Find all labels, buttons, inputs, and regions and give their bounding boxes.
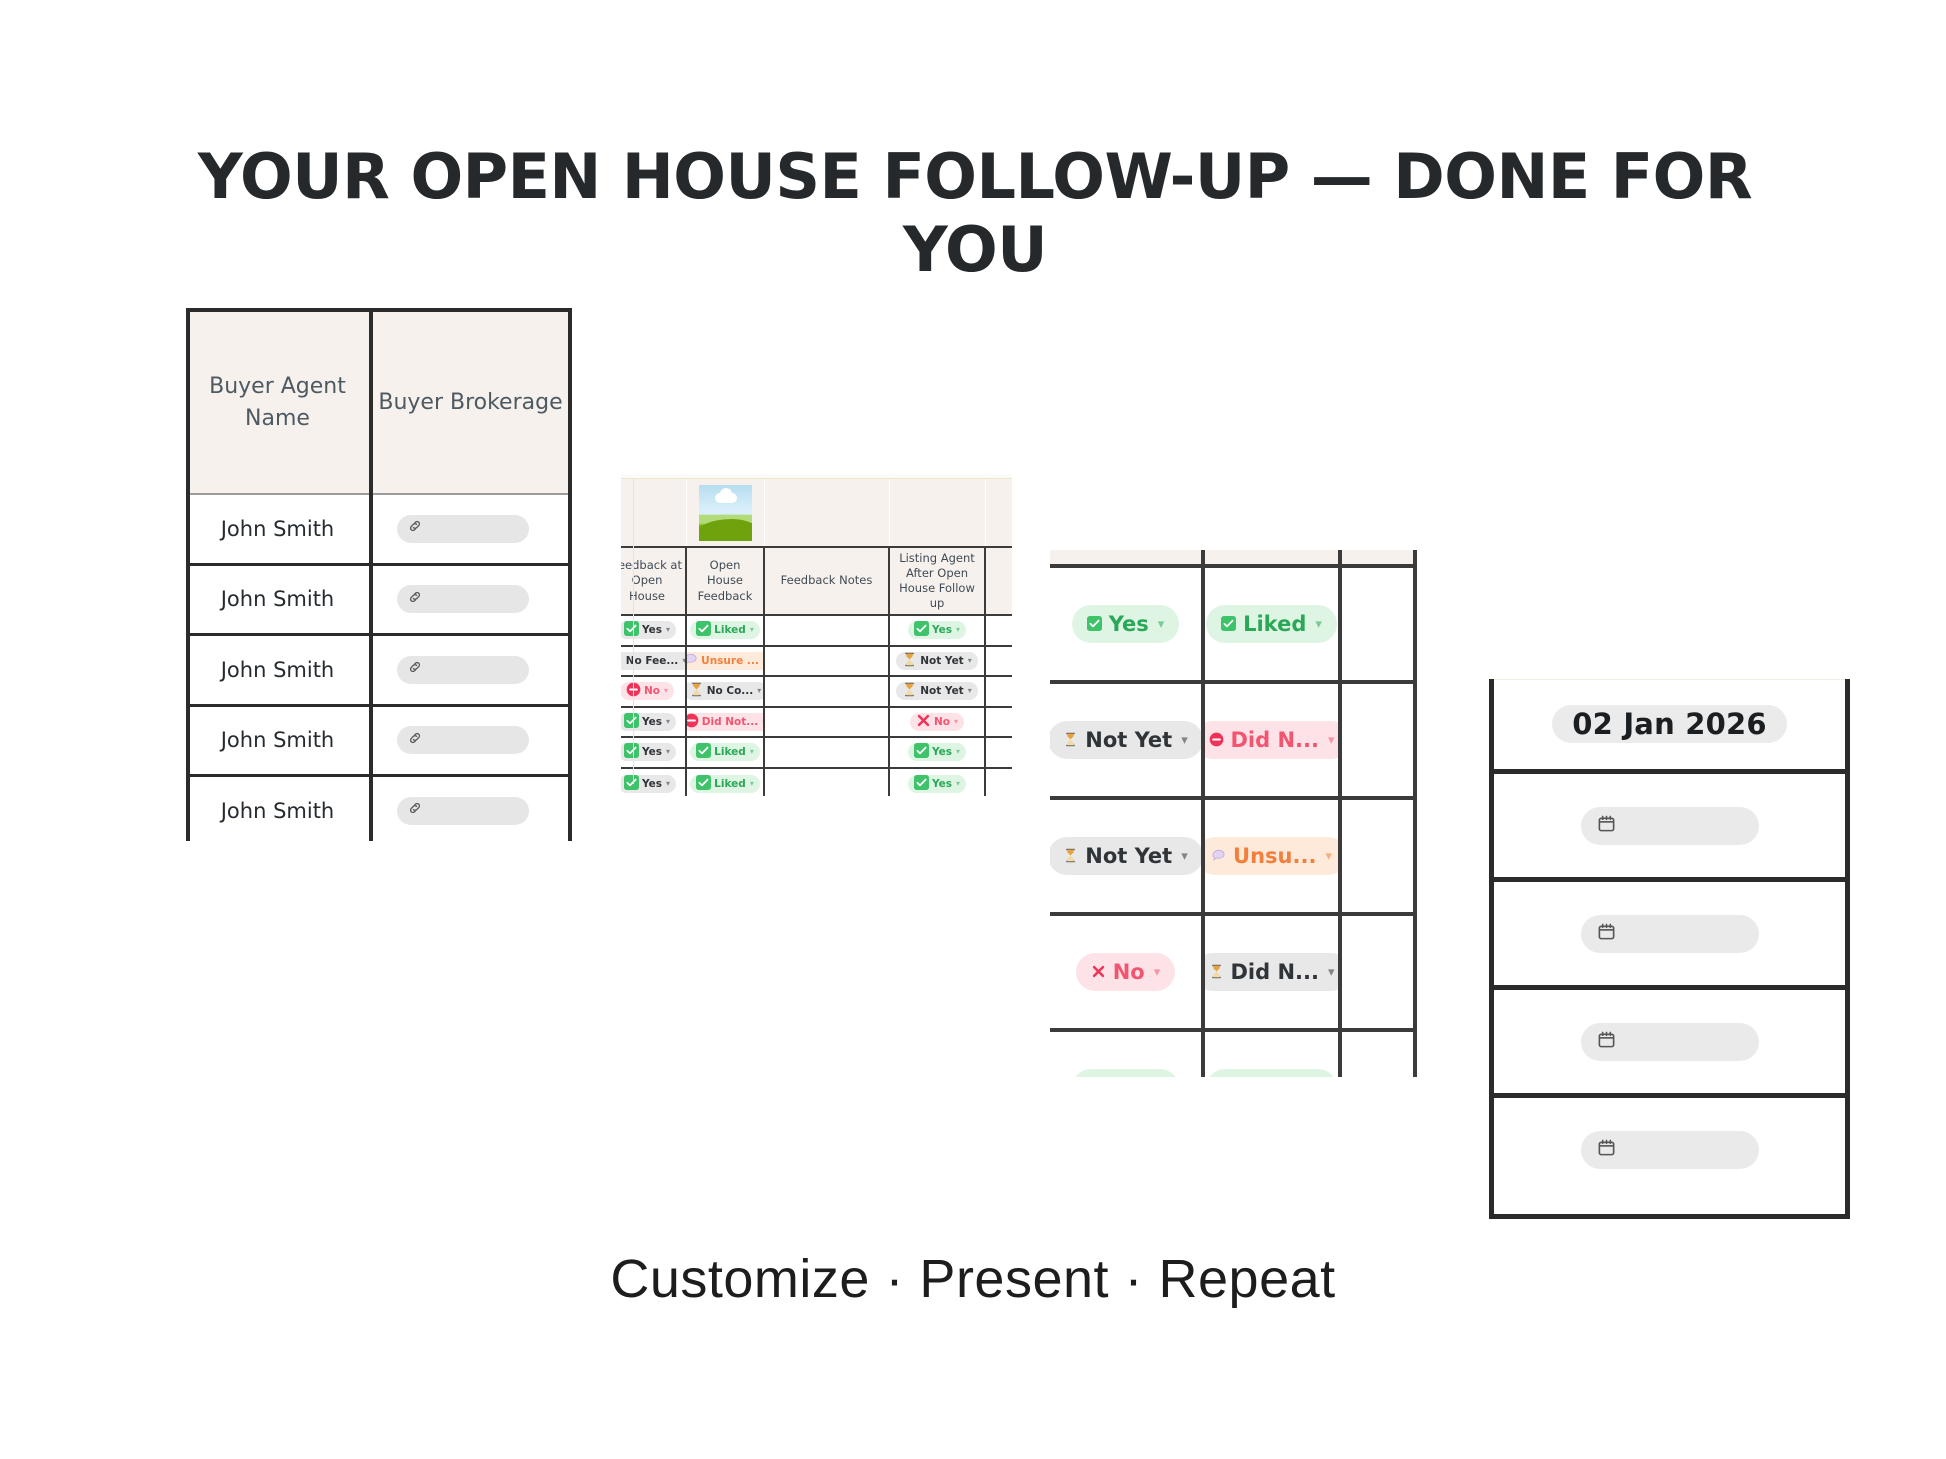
status-badge-label: Not Yet	[920, 656, 963, 667]
cell-buyer-agent-name: John Smith	[186, 495, 369, 563]
cell-open-house-feedback[interactable]: Liked▾	[687, 616, 765, 645]
chevron-down-icon[interactable]: ▾	[1328, 966, 1335, 979]
date-row-filled[interactable]: 02 Jan 2026	[1489, 679, 1850, 769]
cell-attendance-status[interactable]: Yes▾	[1050, 568, 1205, 680]
cell-feedback-notes[interactable]	[765, 616, 890, 645]
table-row[interactable]: John Smith	[186, 707, 572, 778]
speech-icon	[1211, 846, 1226, 866]
status-badge[interactable]: Yes▾	[1072, 1069, 1180, 1077]
thumbnail-cell-empty-3	[890, 479, 986, 546]
chevron-down-icon[interactable]: ▾	[666, 626, 670, 634]
link-icon	[407, 800, 423, 821]
column-header-buyer-brokerage: Buyer Brokerage	[369, 312, 572, 493]
cell-feedback-at-open-house[interactable]: Yes▾	[621, 616, 687, 645]
link-icon	[407, 659, 423, 680]
cell-buyer-brokerage[interactable]	[369, 566, 572, 634]
status-badge-label: No	[1113, 962, 1145, 983]
status-badge[interactable]: Yes▾	[908, 621, 966, 639]
status-badge[interactable]: Not Yet▾	[1050, 837, 1203, 875]
cell-feedback-status[interactable]: Unsu...▾	[1205, 800, 1342, 912]
status-badge[interactable]: Liked▾	[690, 775, 760, 793]
grid-accent-line	[633, 478, 634, 784]
status-badge-label: Did Not...	[702, 717, 758, 728]
date-row-empty[interactable]	[1489, 1093, 1850, 1201]
cell-listing-agent-followup[interactable]: Yes▾	[890, 738, 986, 767]
cell-attendance-status[interactable]: Yes▾	[1050, 1032, 1205, 1077]
calendar-icon	[1597, 1138, 1616, 1162]
status-badge[interactable]: No▾	[621, 682, 674, 700]
chevron-down-icon[interactable]: ▾	[1158, 618, 1165, 631]
grid-row[interactable]: Yes▾Did Not...▾No▾	[621, 708, 1012, 739]
status-badge-label: Liked	[714, 747, 746, 758]
grid-row[interactable]: Yes▾Liked▾Yes▾	[621, 616, 1012, 647]
date-picker-pill[interactable]	[1581, 1131, 1759, 1169]
hourglass-icon	[689, 682, 704, 700]
chevron-down-icon[interactable]: ▾	[968, 657, 972, 665]
hourglass-icon	[621, 652, 623, 670]
date-table-body: 02 Jan 2026	[1489, 679, 1850, 1201]
status-badge[interactable]: Liked▾	[1206, 605, 1337, 643]
cell-status-empty	[1342, 568, 1417, 680]
cell-feedback-at-open-house[interactable]: No Fee...▾	[621, 647, 687, 676]
chevron-down-icon[interactable]: ▾	[1315, 618, 1322, 631]
cell-feedback-status[interactable]: Liked▾	[1205, 1032, 1342, 1077]
chevron-down-icon[interactable]: ▾	[666, 780, 670, 788]
status-badge-label: Yes	[642, 779, 662, 790]
cell-feedback-status[interactable]: Did N...▾	[1205, 684, 1342, 796]
status-badge[interactable]: Liked▾	[690, 743, 760, 761]
status-grid-row[interactable]: Not Yet▾Unsu...▾	[1050, 796, 1417, 912]
grid-row[interactable]: No▾No Co...▾Not Yet▾	[621, 677, 1012, 708]
table-row[interactable]: John Smith	[186, 566, 572, 637]
no-entry-icon	[687, 713, 699, 731]
date-table-border-left	[1489, 679, 1494, 1219]
cell-listing-agent-followup[interactable]: Yes▾	[890, 616, 986, 645]
table-border-left	[186, 308, 190, 841]
cell-listing-agent-followup[interactable]: Not Yet▾	[890, 677, 986, 706]
table-row[interactable]: John Smith	[186, 636, 572, 707]
grid-row[interactable]: Yes▾Liked▾Yes▾	[621, 738, 1012, 769]
check-icon	[914, 743, 929, 761]
status-badge-label: Yes	[1109, 614, 1149, 635]
speech-icon	[687, 652, 698, 670]
status-badge-label: Unsure ...	[701, 656, 759, 667]
check-icon	[624, 775, 639, 793]
cell-feedback-at-open-house[interactable]: Yes▾	[621, 769, 687, 797]
followup-date-pill[interactable]: 02 Jan 2026	[1552, 705, 1786, 743]
status-badge[interactable]: Did Not...▾	[687, 713, 765, 731]
status-badge-label: No	[644, 686, 660, 697]
status-badge-label: Yes	[642, 717, 662, 728]
brokerage-link-pill[interactable]	[397, 726, 529, 754]
date-table-border-right	[1845, 679, 1850, 1219]
cell-open-house-feedback[interactable]: Unsure ...▾	[687, 647, 765, 676]
tagline: Customize · Present · Repeat	[273, 1248, 1673, 1310]
cell-feedback-at-open-house[interactable]: Yes▾	[621, 738, 687, 767]
date-table-top-line	[1489, 679, 1850, 680]
thumbnail-cell-empty-2	[765, 479, 890, 546]
status-badge-label: Yes	[932, 779, 952, 790]
check-icon	[914, 775, 929, 793]
cell-feedback-status[interactable]: Liked▾	[1205, 568, 1342, 680]
cell-status-empty	[1342, 800, 1417, 912]
check-icon	[914, 621, 929, 639]
status-badge[interactable]: Did N...▾	[1205, 953, 1342, 991]
status-grid-row[interactable]: Yes▾Liked▾	[1050, 1028, 1417, 1077]
check-icon	[1221, 614, 1236, 634]
status-badge-label: Yes	[642, 747, 662, 758]
check-icon	[696, 621, 711, 639]
date-row-empty[interactable]	[1489, 877, 1850, 985]
status-badge[interactable]: Yes▾	[621, 743, 676, 761]
status-badge-label: Not Yet	[1085, 730, 1172, 751]
cell-buyer-agent-name: John Smith	[186, 777, 369, 845]
chevron-down-icon[interactable]: ▾	[1325, 850, 1332, 863]
cell-feedback-status[interactable]: Did N...▾	[1205, 916, 1342, 1028]
column-header-buyer-agent-name: Buyer Agent Name	[186, 312, 369, 493]
date-row-empty[interactable]	[1489, 769, 1850, 877]
chevron-down-icon[interactable]: ▾	[956, 780, 960, 788]
calendar-icon	[1597, 922, 1616, 946]
grid-row[interactable]: No Fee...▾Unsure ...▾Not Yet▾	[621, 647, 1012, 678]
brokerage-link-pill[interactable]	[397, 515, 529, 543]
cell-buyer-agent-name: John Smith	[186, 636, 369, 704]
cell-feedback-notes[interactable]	[765, 647, 890, 676]
cell-feedback-notes[interactable]	[765, 677, 890, 706]
grid-row[interactable]: Yes▾Liked▾Yes▾	[621, 769, 1012, 797]
check-icon	[624, 713, 639, 731]
grid-thumbnail-row	[621, 479, 1012, 546]
hourglass-icon	[902, 682, 917, 700]
table-body: John SmithJohn SmithJohn SmithJohn Smith…	[186, 495, 572, 845]
buyer-agent-table: Buyer Agent Name Buyer Brokerage John Sm…	[186, 308, 572, 841]
status-badge[interactable]: No Fee...▾	[621, 652, 687, 670]
status-badge-label: Unsu...	[1233, 846, 1316, 867]
status-badge-label: Liked	[714, 779, 746, 790]
feedback-status-grid: Yes▾Liked▾Not Yet▾Did N...▾Not Yet▾Unsu.…	[1050, 550, 1417, 1077]
thumbnail-cell-empty-1	[621, 479, 687, 546]
date-row-empty[interactable]	[1489, 985, 1850, 1093]
status-badge[interactable]: Yes▾	[621, 713, 676, 731]
cell-buyer-brokerage[interactable]	[369, 777, 572, 845]
cell-buyer-brokerage[interactable]	[369, 495, 572, 563]
table-row[interactable]: John Smith	[186, 777, 572, 845]
status-badge[interactable]: Yes▾	[621, 621, 676, 639]
chevron-down-icon[interactable]: ▾	[666, 748, 670, 756]
check-icon	[696, 775, 711, 793]
status-badge[interactable]: Unsure ...▾	[687, 652, 765, 670]
status-badge[interactable]: Unsu...▾	[1205, 837, 1342, 875]
status-badge[interactable]: Not Yet▾	[896, 652, 977, 670]
status-badge[interactable]: No▾	[910, 713, 964, 731]
column-header-listing-agent-followup: Listing Agent After Open House Follow up	[890, 548, 986, 614]
chevron-down-icon[interactable]: ▾	[750, 748, 754, 756]
cell-open-house-feedback[interactable]: Did Not...▾	[687, 708, 765, 737]
status-badge[interactable]: Not Yet▾	[896, 682, 977, 700]
status-badge-label: Liked	[714, 625, 746, 636]
cell-feedback-at-open-house[interactable]: No▾	[621, 677, 687, 706]
date-picker-pill[interactable]	[1581, 915, 1759, 953]
calendar-icon	[1597, 1030, 1616, 1054]
chevron-down-icon[interactable]: ▾	[757, 687, 761, 695]
chevron-down-icon[interactable]: ▾	[954, 718, 958, 726]
cell-buyer-agent-name: John Smith	[186, 707, 369, 775]
chevron-down-icon[interactable]: ▾	[750, 626, 754, 634]
chevron-down-icon[interactable]: ▾	[664, 687, 668, 695]
cross-icon	[1091, 962, 1106, 982]
status-grid-row[interactable]: No▾Did N...▾	[1050, 912, 1417, 1028]
hourglass-icon	[1209, 962, 1224, 982]
cell-open-house-feedback[interactable]: No Co...▾	[687, 677, 765, 706]
cell-feedback-notes[interactable]	[765, 769, 890, 797]
link-icon	[407, 730, 423, 751]
chevron-down-icon[interactable]: ▾	[956, 748, 960, 756]
status-badge-label: Yes	[932, 625, 952, 636]
link-icon	[407, 589, 423, 610]
check-icon	[624, 743, 639, 761]
status-badge[interactable]: Yes▾	[908, 743, 966, 761]
grid-body: Yes▾Liked▾Yes▾No Fee...▾Unsure ...▾Not Y…	[621, 616, 1012, 796]
chevron-down-icon[interactable]: ▾	[666, 718, 670, 726]
chevron-down-icon[interactable]: ▾	[1328, 734, 1335, 747]
brokerage-link-pill[interactable]	[397, 585, 529, 613]
page-title: YOUR OPEN HOUSE FOLLOW-UP — DONE FOR YOU	[170, 140, 1780, 286]
table-header-row: Buyer Agent Name Buyer Brokerage	[186, 312, 572, 495]
cell-buyer-brokerage[interactable]	[369, 636, 572, 704]
status-badge[interactable]: Did N...▾	[1205, 721, 1342, 759]
status-badge[interactable]: Yes▾	[908, 775, 966, 793]
cell-feedback-at-open-house[interactable]: Yes▾	[621, 708, 687, 737]
table-border-middle	[369, 308, 373, 841]
column-header-feedback-notes: Feedback Notes	[765, 548, 890, 614]
column-header-feedback-at-open-house: Feedback at Open House	[621, 548, 687, 614]
status-badge-label: Yes	[642, 625, 662, 636]
status-badge-label: No	[934, 717, 950, 728]
hourglass-icon	[1063, 846, 1078, 866]
table-row[interactable]: John Smith	[186, 495, 572, 566]
landscape-image-icon	[699, 485, 752, 541]
date-picker-pill[interactable]	[1581, 1023, 1759, 1061]
chevron-down-icon[interactable]: ▾	[1181, 850, 1188, 863]
chevron-down-icon[interactable]: ▾	[1154, 966, 1161, 979]
chevron-down-icon[interactable]: ▾	[956, 626, 960, 634]
cell-listing-agent-followup[interactable]: Yes▾	[890, 769, 986, 797]
hourglass-icon	[902, 652, 917, 670]
status-badge-label: Yes	[932, 747, 952, 758]
status-badge[interactable]: Not Yet▾	[1050, 721, 1203, 759]
status-badge[interactable]: No Co...▾	[687, 682, 765, 700]
calendar-icon	[1597, 814, 1616, 838]
check-icon	[1087, 614, 1102, 634]
thumbnail-cell	[687, 479, 765, 546]
status-grid-row[interactable]: Not Yet▾Did N...▾	[1050, 680, 1417, 796]
cell-feedback-notes[interactable]	[765, 708, 890, 737]
cross-icon	[916, 713, 931, 731]
brokerage-link-pill[interactable]	[397, 656, 529, 684]
check-icon	[624, 621, 639, 639]
chevron-down-icon[interactable]: ▾	[968, 687, 972, 695]
chevron-down-icon[interactable]: ▾	[682, 657, 686, 665]
no-entry-icon	[1209, 730, 1224, 750]
status-badge[interactable]: Yes▾	[621, 775, 676, 793]
cell-status-empty	[1342, 916, 1417, 1028]
status-badge-label: No Co...	[707, 686, 754, 697]
brokerage-link-pill[interactable]	[397, 797, 529, 825]
status-badge-label: Not Yet	[920, 686, 963, 697]
column-header-open-house-feedback: Open House Feedback	[687, 548, 765, 614]
cell-attendance-status[interactable]: No▾	[1050, 916, 1205, 1028]
hourglass-icon	[1063, 730, 1078, 750]
status-badge[interactable]: Yes▾	[1072, 605, 1180, 643]
chevron-down-icon[interactable]: ▾	[750, 780, 754, 788]
grid-header-row: Feedback at Open House Open House Feedba…	[621, 546, 1012, 616]
status-badge[interactable]: No▾	[1076, 953, 1176, 991]
status-grid-body: Yes▾Liked▾Not Yet▾Did N...▾Not Yet▾Unsu.…	[1050, 564, 1417, 1077]
status-grid-row[interactable]: Yes▾Liked▾	[1050, 564, 1417, 680]
cell-feedback-notes[interactable]	[765, 738, 890, 767]
status-badge[interactable]: Liked▾	[690, 621, 760, 639]
cell-attendance-status[interactable]: Not Yet▾	[1050, 800, 1205, 912]
link-icon	[407, 518, 423, 539]
status-badge-label: Did N...	[1231, 962, 1319, 983]
cell-buyer-brokerage[interactable]	[369, 707, 572, 775]
cell-status-empty	[1342, 1032, 1417, 1077]
cell-status-empty	[1342, 684, 1417, 796]
status-badge-label: Liked	[1243, 614, 1306, 635]
date-picker-pill[interactable]	[1581, 807, 1759, 845]
table-border-right	[568, 308, 572, 841]
cell-attendance-status[interactable]: Not Yet▾	[1050, 684, 1205, 796]
check-icon	[696, 743, 711, 761]
followup-date-table: 02 Jan 2026	[1489, 679, 1850, 1219]
status-badge[interactable]: Liked▾	[1206, 1069, 1337, 1077]
status-badge-label: Did N...	[1231, 730, 1319, 751]
cell-buyer-agent-name: John Smith	[186, 566, 369, 634]
cell-open-house-feedback[interactable]: Liked▾	[687, 769, 765, 797]
status-badge-label: Not Yet	[1085, 846, 1172, 867]
chevron-down-icon[interactable]: ▾	[1181, 734, 1188, 747]
cell-listing-agent-followup[interactable]: No▾	[890, 708, 986, 737]
open-house-feedback-grid: Feedback at Open House Open House Feedba…	[621, 474, 1012, 796]
cell-listing-agent-followup[interactable]: Not Yet▾	[890, 647, 986, 676]
status-grid-top-bar	[1050, 550, 1417, 564]
cell-open-house-feedback[interactable]: Liked▾	[687, 738, 765, 767]
